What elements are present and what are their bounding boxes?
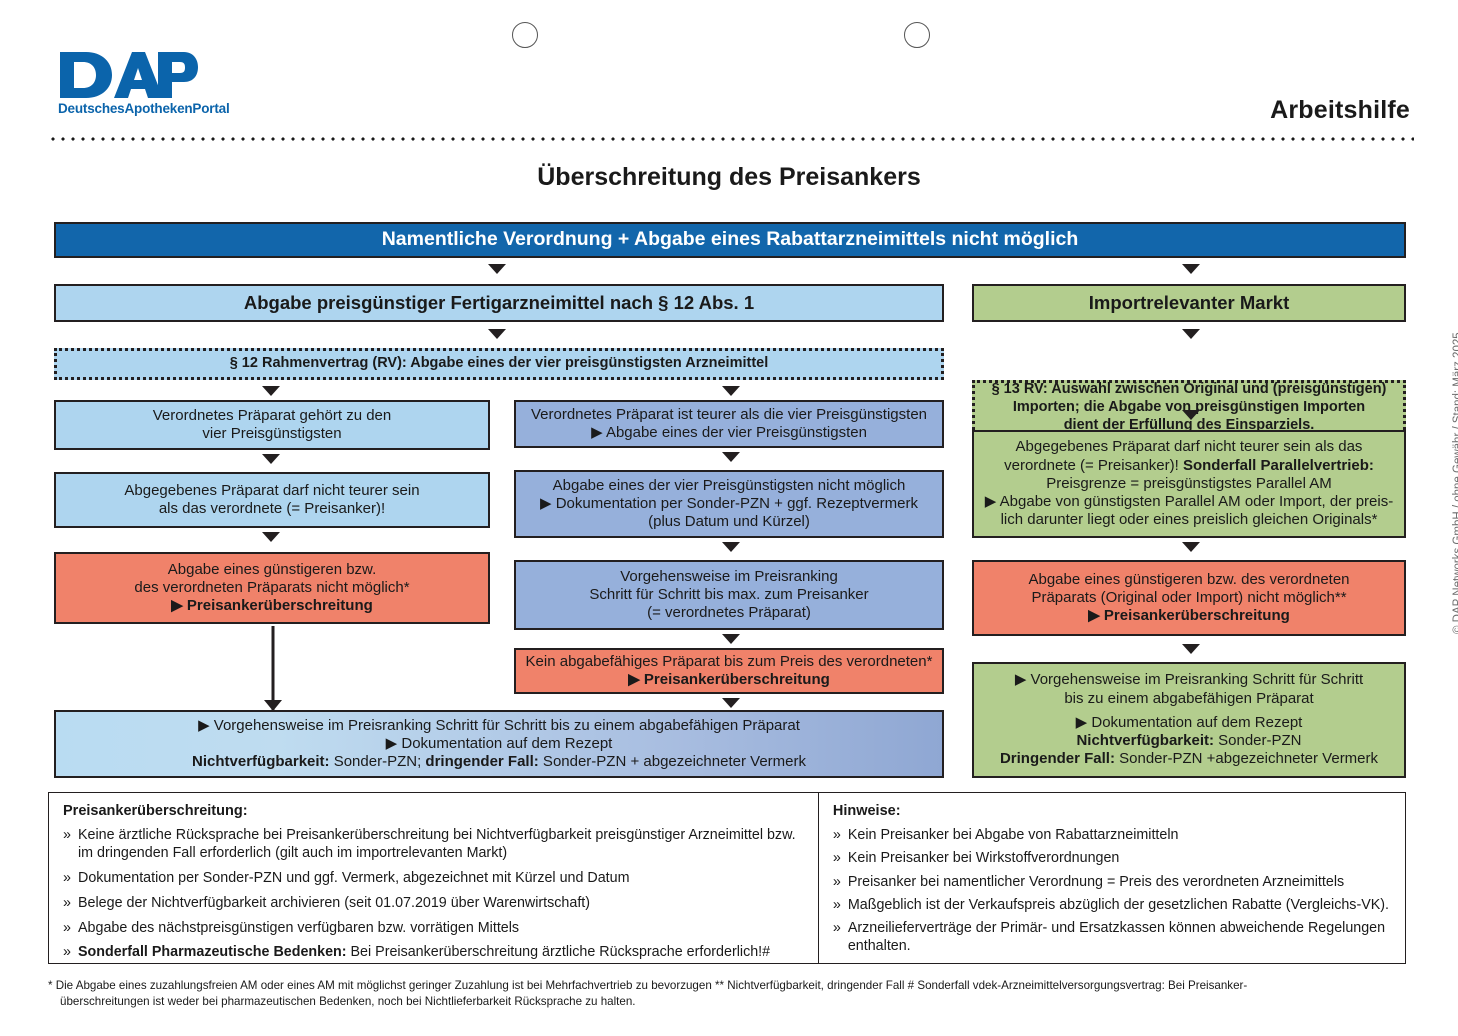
arrow-down-icon	[1182, 410, 1200, 420]
arrow-down-icon	[262, 454, 280, 464]
arrow-down-icon	[1182, 329, 1200, 339]
footnotes: * Die Abgabe eines zuzahlungsfreien AM o…	[48, 978, 1400, 1009]
header-divider	[48, 137, 1414, 141]
left-column-header: Abgabe preisgünstiger Fertigarzneimittel…	[54, 284, 944, 322]
guillemet-bullet-icon: »	[833, 873, 841, 891]
c3-line5: Dringender Fall: Sonder-PZN +abgezeichne…	[982, 750, 1396, 768]
arrow-down-icon	[1182, 264, 1200, 274]
notes-left-column: Preisankerüberschreitung: » Keine ärztli…	[49, 793, 818, 963]
list-item-special: » Sonderfall Pharmazeutische Bedenken: B…	[63, 943, 806, 961]
notes-panel: Preisankerüberschreitung: » Keine ärztli…	[48, 792, 1406, 964]
page-title: Überschreitung des Preisankers	[0, 163, 1458, 192]
document-type-label: Arbeitshilfe	[1270, 96, 1410, 125]
arrow-down-icon	[488, 329, 506, 339]
arrow-down-icon	[262, 386, 280, 396]
flow-box-b3: Vorgehensweise im Preisranking Schritt f…	[514, 560, 944, 630]
footnote-line2: überschreitungen ist weder bei pharmazeu…	[48, 994, 1400, 1010]
dap-logo-mark	[58, 50, 198, 100]
flow-box-b1: Verordnetes Präparat ist teurer als die …	[514, 400, 944, 448]
c1-line2: verordnete (= Preisanker)! Sonderfall Pa…	[982, 457, 1396, 475]
flow-banner: Namentliche Verordnung + Abgabe eines Ra…	[54, 222, 1406, 258]
list-item: » Kein Preisanker bei Wirkstoffverordnun…	[833, 849, 1393, 867]
arrow-down-icon	[722, 452, 740, 462]
arrow-down-icon	[722, 386, 740, 396]
list-item: » Kein Preisanker bei Abgabe von Rabatta…	[833, 826, 1393, 844]
dap-logo: DeutschesApothekenPortal	[58, 50, 230, 116]
guillemet-bullet-icon: »	[833, 896, 841, 914]
guillemet-bullet-icon: »	[63, 894, 71, 912]
footnote-line1: * Die Abgabe eines zuzahlungsfreien AM o…	[48, 978, 1400, 994]
list-item: » Abgabe des nächstpreisgünstigen verfüg…	[63, 919, 806, 937]
guillemet-bullet-icon: »	[63, 919, 71, 937]
logo-subtitle: DeutschesApothekenPortal	[58, 101, 230, 116]
merged-line3: Nichtverfügbarkeit: Sonder-PZN; dringend…	[64, 753, 934, 771]
connector-arrow-long	[263, 626, 283, 710]
notes-right-column: Hinweise: » Kein Preisanker bei Abgabe v…	[818, 793, 1405, 963]
flow-box-a3-preisanker: Abgabe eines günstigeren bzw. des verord…	[54, 552, 490, 624]
flow-box-c1: Abgegebenes Präparat darf nicht teurer s…	[972, 430, 1406, 538]
c3-line4: Nichtverfügbarkeit: Sonder-PZN	[982, 732, 1396, 750]
arrow-down-icon	[722, 542, 740, 552]
guillemet-bullet-icon: »	[63, 869, 71, 887]
right-column-header: Importrelevanter Markt	[972, 284, 1406, 322]
flow-box-b4-preisanker: Kein abgabefähiges Präparat bis zum Prei…	[514, 648, 944, 694]
arrow-down-icon	[722, 634, 740, 644]
punch-hole-left	[512, 22, 538, 48]
right-rahmenvertrag-box: § 13 RV: Auswahl zwischen Original und (…	[972, 380, 1406, 436]
flow-box-c3: ▶ Vorgehensweise im Preisranking Schritt…	[972, 662, 1406, 778]
list-item: » Keine ärztliche Rücksprache bei Preisa…	[63, 826, 806, 863]
list-item: » Dokumentation per Sonder-PZN und ggf. …	[63, 869, 806, 887]
arrow-down-icon	[722, 698, 740, 708]
copyright-text: © DAP Networks GmbH / ohne Gewähr / Stan…	[1452, 616, 1458, 634]
arrow-down-icon	[262, 532, 280, 542]
guillemet-bullet-icon: »	[833, 849, 841, 867]
notes-left-title: Preisankerüberschreitung:	[63, 803, 806, 819]
left-rahmenvertrag-box: § 12 Rahmenvertrag (RV): Abgabe eines de…	[54, 348, 944, 380]
list-item: » Maßgeblich ist der Verkaufspreis abzüg…	[833, 896, 1393, 914]
punch-hole-right	[904, 22, 930, 48]
arrow-down-icon	[1182, 542, 1200, 552]
flow-box-a2: Abgegebenes Präparat darf nicht teurer s…	[54, 472, 490, 528]
guillemet-bullet-icon: »	[833, 826, 841, 844]
arrow-down-icon	[488, 264, 506, 274]
list-item: » Preisanker bei namentlicher Verordnung…	[833, 873, 1393, 891]
guillemet-bullet-icon: »	[833, 919, 841, 937]
flow-box-merged-result: ▶ Vorgehensweise im Preisranking Schritt…	[54, 710, 944, 778]
list-item: » Arzneilieferverträge der Primär- und E…	[833, 919, 1393, 956]
flow-box-c2-preisanker: Abgabe eines günstigeren bzw. des verord…	[972, 560, 1406, 636]
notes-right-title: Hinweise:	[833, 803, 1393, 819]
guillemet-bullet-icon: »	[63, 826, 71, 844]
flow-box-a1: Verordnetes Präparat gehört zu den vier …	[54, 400, 490, 450]
arrow-down-icon	[1182, 644, 1200, 654]
guillemet-bullet-icon: »	[63, 943, 71, 961]
flow-box-b2: Abgabe eines der vier Preisgünstigsten n…	[514, 470, 944, 538]
list-item: » Belege der Nichtverfügbarkeit archivie…	[63, 894, 806, 912]
right-rv-line1: § 13 RV: Auswahl zwischen Original und (…	[980, 381, 1398, 399]
